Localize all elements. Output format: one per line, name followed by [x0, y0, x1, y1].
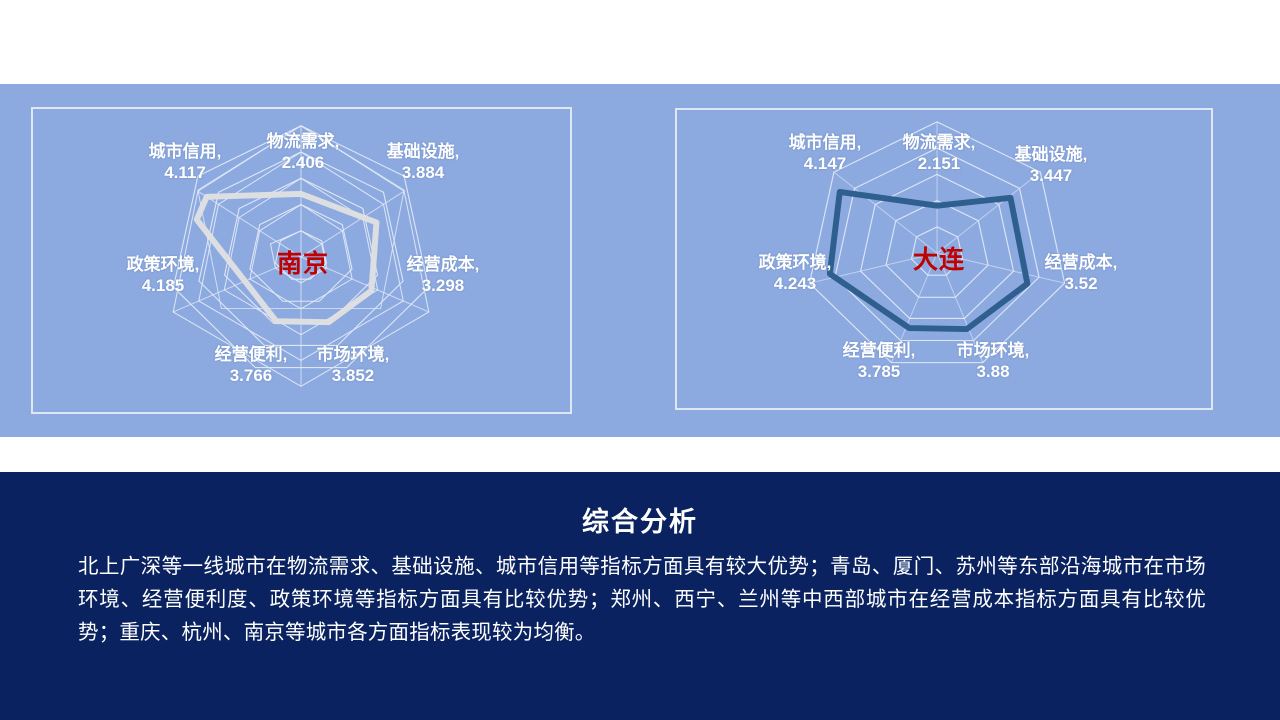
axis-label-policy-environment-value: 4.185 — [73, 275, 253, 296]
chart-center-city-nanjing: 南京 — [233, 244, 373, 280]
analysis-section: 综合分析 北上广深等一线城市在物流需求、基础设施、城市信用等指标方面具有较大优势… — [0, 472, 1280, 720]
chart-center-city-dalian: 大连 — [869, 240, 1009, 276]
analysis-title: 综合分析 — [0, 500, 1280, 539]
white-separator — [0, 437, 1280, 472]
axis-label-city-credit-name: 城市信用, — [789, 133, 862, 152]
axis-label-infrastructure-value: 3.884 — [333, 162, 513, 183]
axis-label-city-credit-name: 城市信用, — [149, 142, 222, 161]
axis-label-policy-environment-name: 政策环境, — [759, 253, 832, 272]
axis-label-operating-cost: 经营成本, 3.298 — [353, 254, 533, 296]
axis-label-city-credit: 城市信用, 4.147 — [735, 132, 915, 174]
charts-band: 物流需求, 2.406 基础设施, 3.884 经营成本, 3.298 市场环境… — [0, 84, 1280, 437]
axis-label-policy-environment-name: 政策环境, — [127, 255, 200, 274]
analysis-body-text: 北上广深等一线城市在物流需求、基础设施、城市信用等指标方面具有较大优势；青岛、厦… — [78, 550, 1206, 649]
axis-label-operating-convenience-value: 3.766 — [161, 365, 341, 386]
axis-label-policy-environment: 政策环境, 4.243 — [705, 252, 885, 294]
axis-label-operating-convenience: 经营便利, 3.785 — [789, 340, 969, 382]
radar-chart-dalian: 物流需求, 2.151 基础设施, 3.447 经营成本, 3.52 市场环境,… — [675, 108, 1213, 410]
axis-label-logistics-demand-name: 物流需求, — [267, 132, 340, 151]
axis-label-policy-environment: 政策环境, 4.185 — [73, 254, 253, 296]
axis-label-infrastructure-name: 基础设施, — [1015, 145, 1088, 164]
axis-label-operating-convenience-name: 经营便利, — [843, 341, 916, 360]
axis-label-policy-environment-value: 4.243 — [705, 273, 885, 294]
axis-label-operating-cost-name: 经营成本, — [1045, 253, 1118, 272]
axis-label-operating-cost-value: 3.52 — [991, 273, 1171, 294]
axis-label-infrastructure: 基础设施, 3.884 — [333, 141, 513, 183]
axis-label-operating-cost-name: 经营成本, — [407, 255, 480, 274]
axis-label-city-credit: 城市信用, 4.117 — [95, 141, 275, 183]
axis-label-operating-convenience: 经营便利, 3.766 — [161, 344, 341, 386]
axis-label-city-credit-value: 4.147 — [735, 153, 915, 174]
axis-label-operating-convenience-value: 3.785 — [789, 361, 969, 382]
axis-label-infrastructure-value: 3.447 — [961, 165, 1141, 186]
radar-chart-nanjing: 物流需求, 2.406 基础设施, 3.884 经营成本, 3.298 市场环境… — [31, 107, 572, 414]
axis-label-operating-cost: 经营成本, 3.52 — [991, 252, 1171, 294]
axis-label-operating-convenience-name: 经营便利, — [215, 345, 288, 364]
axis-label-infrastructure-name: 基础设施, — [387, 142, 460, 161]
axis-label-operating-cost-value: 3.298 — [353, 275, 533, 296]
axis-label-city-credit-value: 4.117 — [95, 162, 275, 183]
axis-label-infrastructure: 基础设施, 3.447 — [961, 144, 1141, 186]
